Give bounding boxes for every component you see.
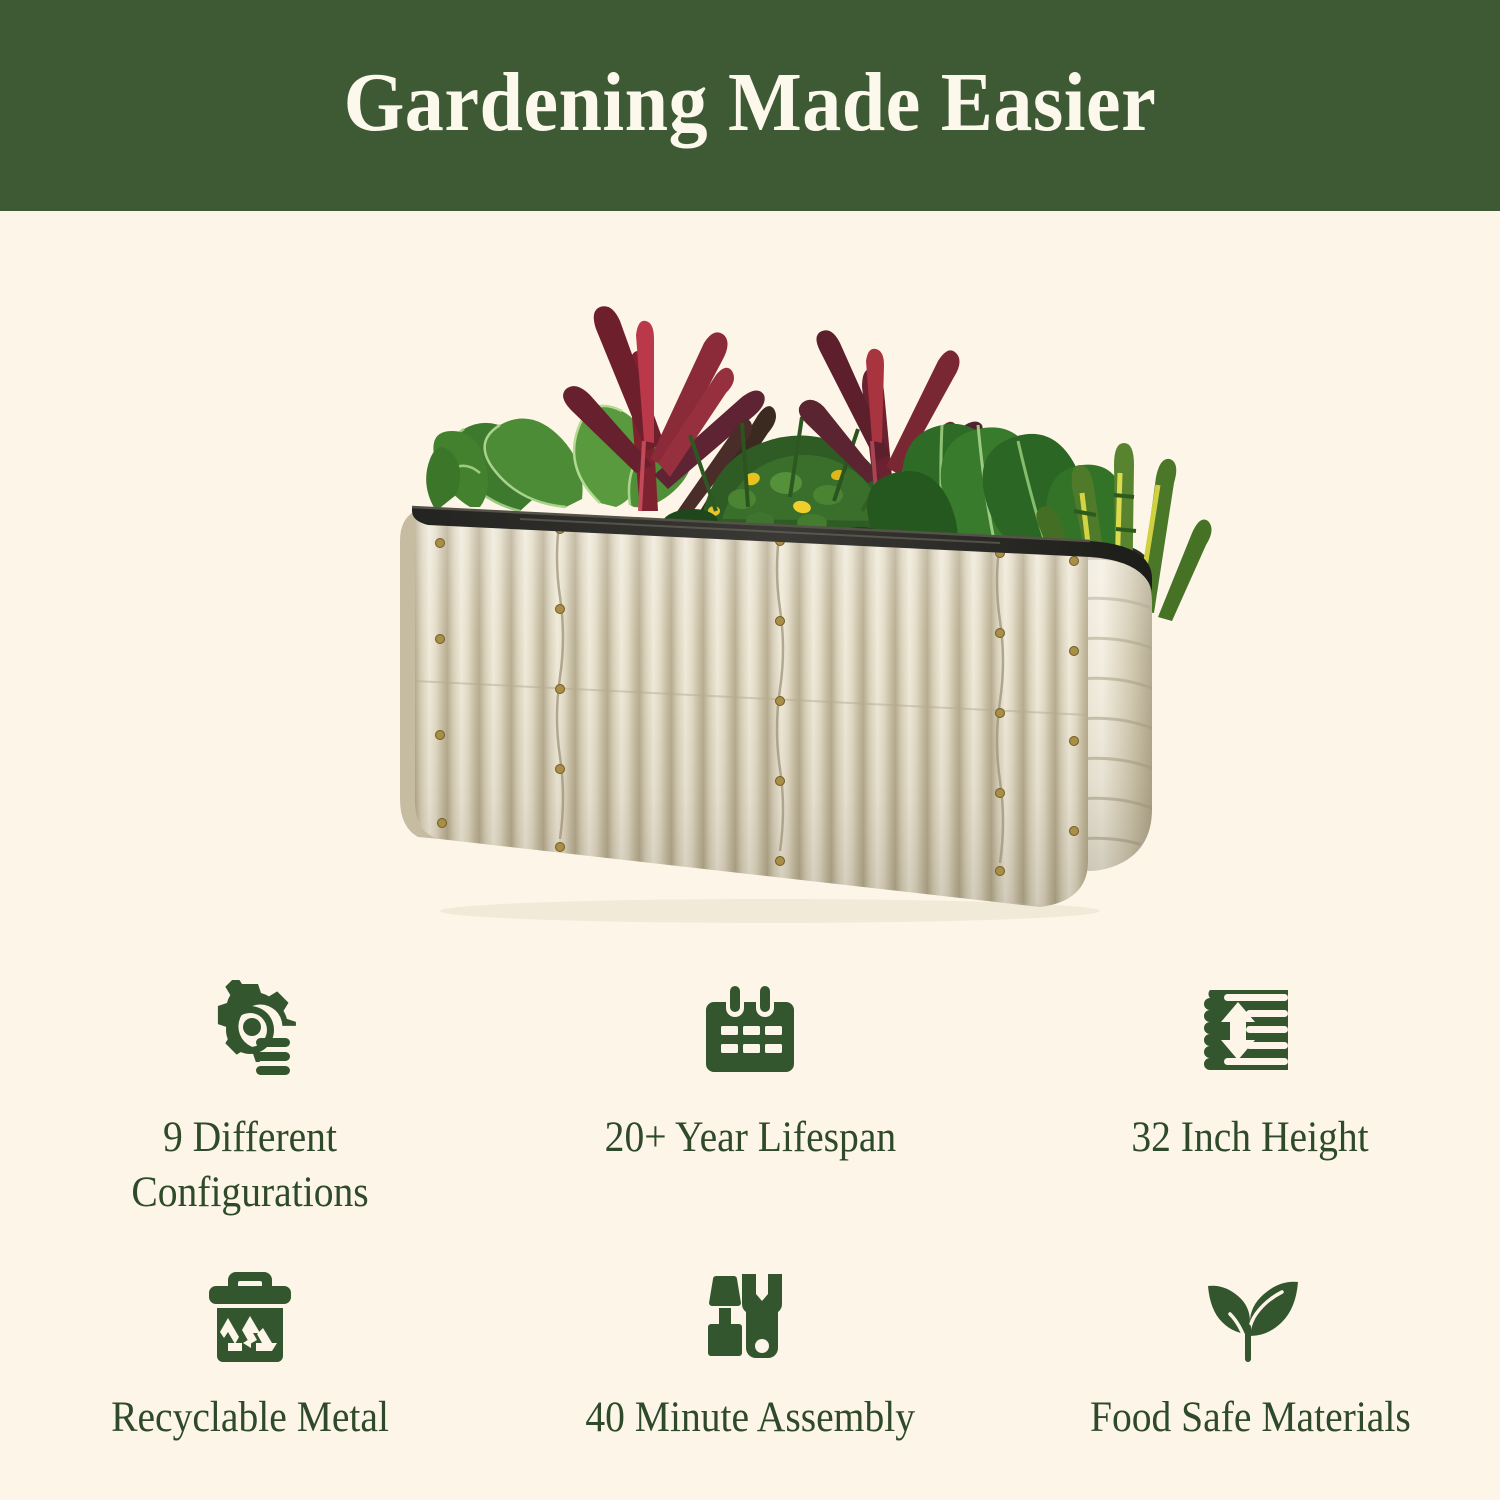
calendar-icon — [696, 976, 804, 1084]
feature-item-configurations: 9 Different Configurations — [0, 962, 500, 1252]
recycle-bin-icon — [200, 1266, 300, 1366]
header-banner: Gardening Made Easier — [0, 0, 1500, 211]
leaf-sprout-icon — [1200, 1266, 1300, 1366]
tools-icon — [700, 1266, 800, 1366]
feature-item-recyclable: Recyclable Metal — [0, 1252, 500, 1500]
feature-item-assembly: 40 Minute Assembly — [500, 1252, 1000, 1500]
feature-item-food-safe: Food Safe Materials — [1000, 1252, 1500, 1500]
feature-label: 40 Minute Assembly — [585, 1390, 915, 1445]
feature-label: Recyclable Metal — [111, 1390, 389, 1445]
hero-product-image — [0, 211, 1500, 956]
planter-front-panel — [400, 491, 1120, 921]
planter-illustration — [0, 211, 1500, 956]
feature-label: 9 Different Configurations — [131, 1110, 368, 1220]
height-ruler-icon — [1196, 976, 1304, 1084]
feature-grid: 9 Different Configurations 20+ Year Life… — [0, 962, 1500, 1500]
feature-item-lifespan: 20+ Year Lifespan — [500, 962, 1000, 1252]
gear-configurations-icon — [196, 976, 304, 1084]
feature-label: 20+ Year Lifespan — [604, 1110, 895, 1165]
feature-label: 32 Inch Height — [1131, 1110, 1368, 1165]
feature-item-height: 32 Inch Height — [1000, 962, 1500, 1252]
product-shadow — [440, 899, 1100, 923]
feature-label: Food Safe Materials — [1090, 1390, 1411, 1445]
page-title: Gardening Made Easier — [344, 61, 1157, 151]
